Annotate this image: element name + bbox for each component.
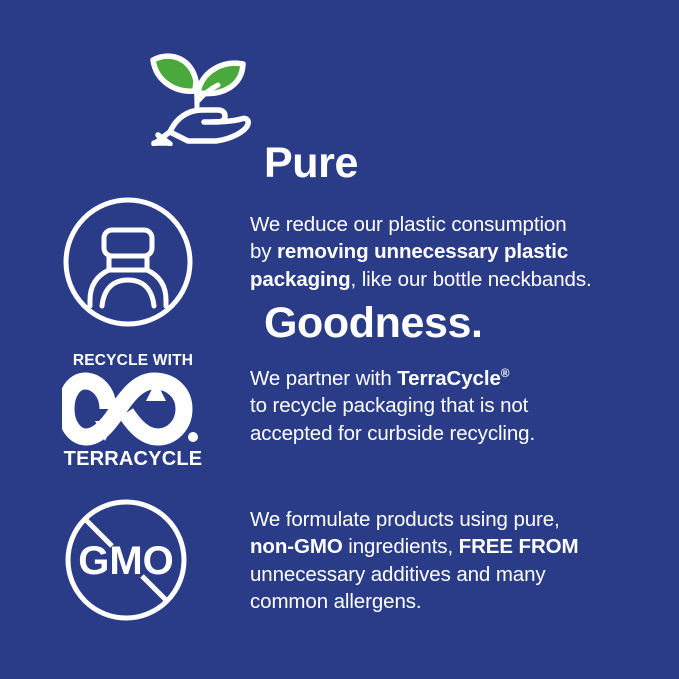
recycle-infinity-loop-icon — [62, 371, 204, 447]
pure-goodness-infographic: Pure Goodness. We reduce our plastic con… — [0, 0, 679, 679]
feature-row-terracycle: RECYCLE WITH TERRACYCLE — [62, 348, 535, 474]
feature-text-line: We reduce our plastic consumption — [250, 211, 592, 238]
feature-row-plastic-reduction: We reduce our plastic consumption by rem… — [62, 196, 592, 328]
hand-holding-sprout-icon — [148, 36, 252, 146]
feature-text-non-gmo: We formulate products using pure, non-GM… — [250, 498, 578, 615]
feature-text-line: We partner with TerraCycle® — [250, 365, 535, 392]
feature-text-line: unnecessary additives and many — [250, 561, 578, 588]
feature-text-line: accepted for curbside recycling. — [250, 420, 535, 447]
feature-row-non-gmo: GMO We formulate products using pure, no… — [60, 498, 578, 624]
page-title-line-1: Pure — [264, 137, 483, 190]
feature-text-line: common allergens. — [250, 588, 578, 615]
feature-text-terracycle: We partner with TerraCycle® to recycle p… — [250, 348, 535, 447]
feature-text-plastic-reduction: We reduce our plastic consumption by rem… — [250, 196, 592, 293]
feature-text-line: by removing unnecessary plastic — [250, 238, 592, 265]
feature-text-line: We formulate products using pure, — [250, 506, 578, 533]
terracycle-bottom-text: TERRACYCLE — [64, 449, 203, 469]
terracycle-top-text: RECYCLE WITH — [73, 353, 193, 369]
feature-text-line: to recycle packaging that is not — [250, 392, 535, 419]
bottle-neckband-circle-icon — [62, 196, 194, 328]
feature-text-line: non-GMO ingredients, FREE FROM — [250, 533, 578, 560]
no-gmo-circle-icon: GMO — [60, 498, 194, 624]
terracycle-logo: RECYCLE WITH TERRACYCLE — [62, 348, 204, 474]
gmo-label: GMO — [78, 539, 174, 583]
feature-text-line: packaging, like our bottle neckbands. — [250, 266, 592, 293]
